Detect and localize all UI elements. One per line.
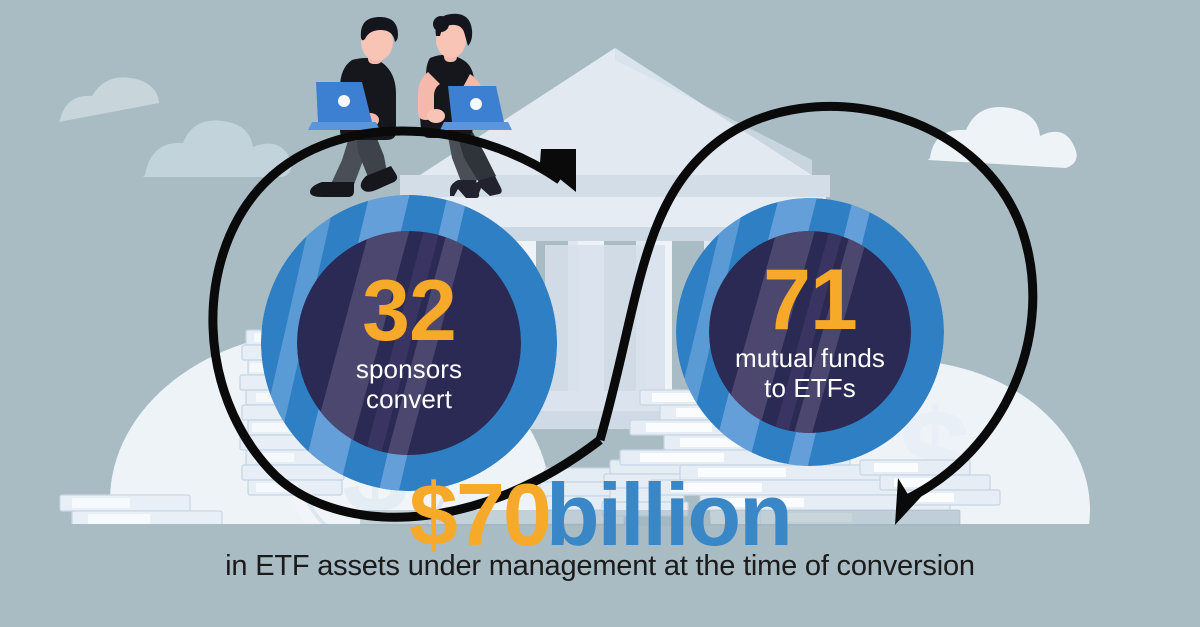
headline-caption: in ETF assets under management at the ti…: [0, 550, 1200, 583]
stat-badge-sponsors: 32 sponsors convert: [261, 195, 557, 491]
stat-label-line1-mutual-funds: mutual funds: [735, 344, 885, 373]
stat-badge-mutual-funds: 71 mutual funds to ETFs: [676, 198, 944, 466]
stat-number-mutual-funds: 71: [763, 261, 857, 340]
badge-text-mutual-funds: 71 mutual funds to ETFs: [676, 198, 944, 466]
stat-label-line1-sponsors: sponsors: [356, 355, 462, 384]
badge-text-sponsors: 32 sponsors convert: [261, 195, 557, 491]
stat-label-line2-sponsors: convert: [366, 385, 452, 414]
infographic-canvas: $ $: [0, 0, 1200, 627]
stat-label-line2-mutual-funds: to ETFs: [764, 374, 856, 403]
stat-number-sponsors: 32: [362, 272, 456, 351]
